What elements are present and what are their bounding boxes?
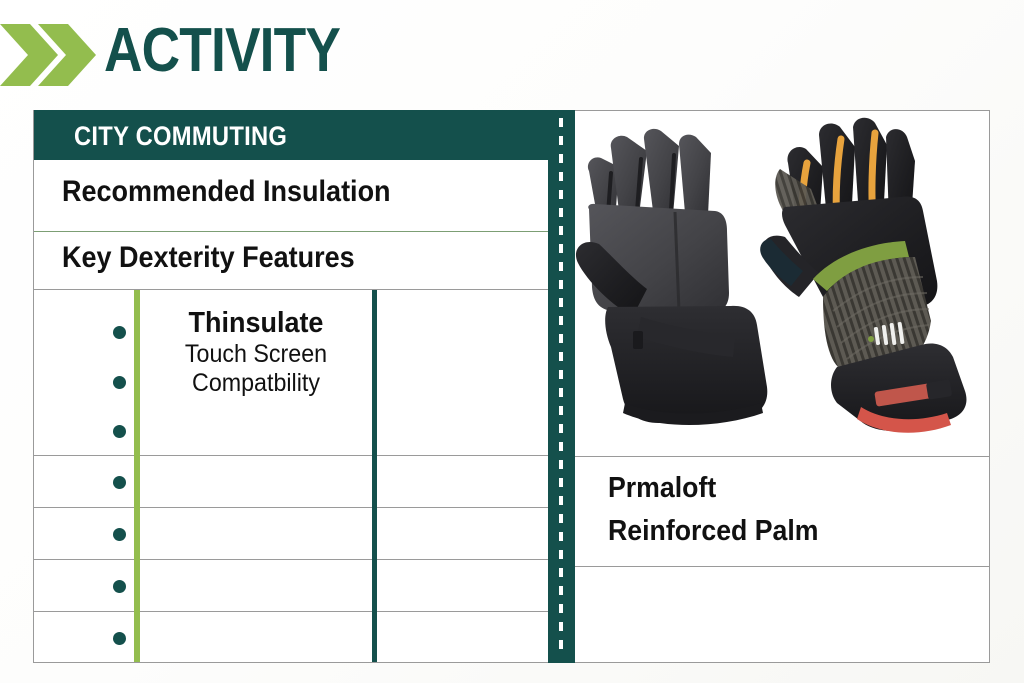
table-row-recommended-insulation: Recommended Insulation <box>34 160 575 232</box>
material-label: Reinforced Palm <box>608 514 819 548</box>
bullet-marker <box>113 528 126 541</box>
bullet-marker <box>113 476 126 489</box>
dashed-line <box>559 118 563 655</box>
gloves-photo <box>575 111 989 457</box>
activity-table: CITY COMMUTING Recommended Insulation Ke… <box>33 110 574 663</box>
table-row-key-dexterity-features: Key Dexterity Features <box>34 232 575 290</box>
double-chevron-right-icon <box>0 24 108 86</box>
table-row <box>34 612 575 662</box>
bullet-marker <box>113 376 126 389</box>
page-header: ACTIVITY <box>0 0 1024 110</box>
feature-title: Thinsulate <box>148 306 364 340</box>
bullet-marker <box>113 632 126 645</box>
dashed-divider-band <box>548 110 575 663</box>
table-header-bar: CITY COMMUTING <box>34 110 575 160</box>
bullet-marker <box>113 425 126 438</box>
column-divider-teal <box>372 290 377 662</box>
table-row <box>34 508 575 560</box>
bullet-marker <box>113 326 126 339</box>
table-row <box>34 560 575 612</box>
feature-subline: Touch Screen <box>148 340 364 369</box>
material-label: Prmaloft <box>608 471 716 505</box>
materials-cell: Prmaloft Reinforced Palm <box>575 457 989 567</box>
feature-text-block: Thinsulate Touch Screen Compatbility <box>140 306 372 398</box>
table-header-label: CITY COMMUTING <box>74 121 287 151</box>
row-label: Key Dexterity Features <box>62 240 355 276</box>
bullet-marker <box>113 580 126 593</box>
right-panel: Prmaloft Reinforced Palm <box>575 110 990 663</box>
empty-cell <box>575 567 989 663</box>
page-title: ACTIVITY <box>104 16 340 86</box>
gloves-image-cell <box>575 111 989 457</box>
row-label: Recommended Insulation <box>62 174 391 210</box>
table-row: Thinsulate Touch Screen Compatbility <box>34 290 575 456</box>
table-row <box>34 456 575 508</box>
column-divider-green <box>134 290 140 662</box>
feature-subline: Compatbility <box>148 369 364 398</box>
